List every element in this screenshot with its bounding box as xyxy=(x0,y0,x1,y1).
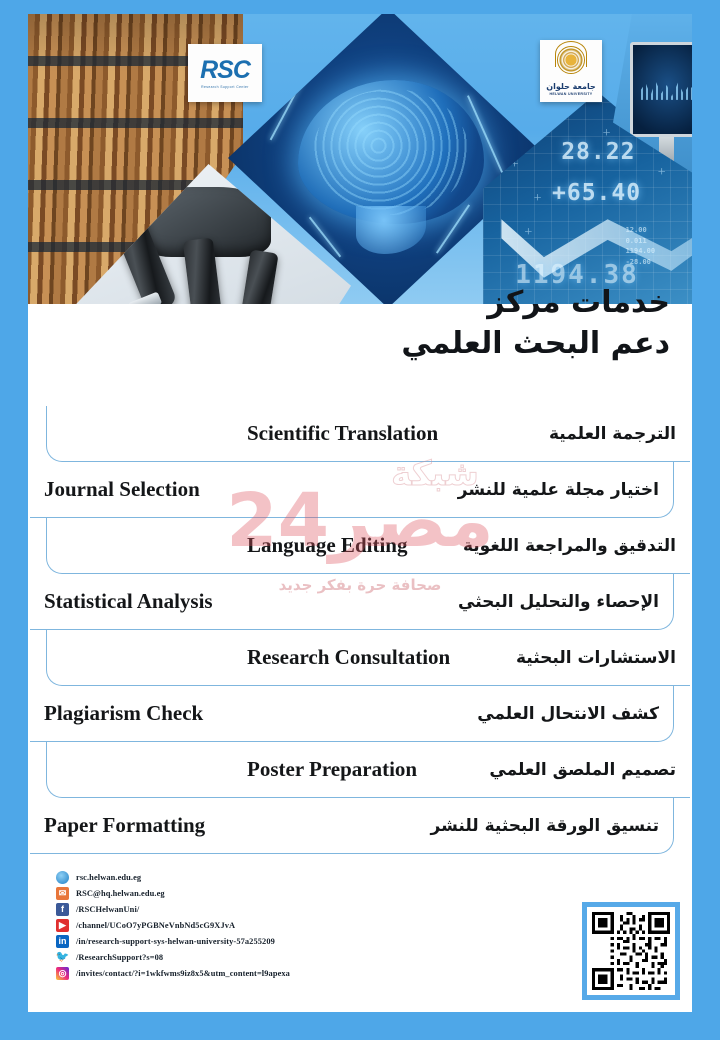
footer: rsc.helwan.edu.eg✉RSC@hq.helwan.edu.egf/… xyxy=(28,862,692,1012)
title-line-1: خدمات مركز xyxy=(250,282,670,323)
instagram-icon[interactable]: ◎ xyxy=(56,967,69,980)
service-row: Language Editingالتدقيق والمراجعة اللغوي… xyxy=(46,518,690,574)
plus-icon: + xyxy=(658,165,666,181)
service-row-inner: Research Consultationالاستشارات البحثية xyxy=(47,645,690,670)
service-row: Plagiarism Checkكشف الانتحال العلمي xyxy=(30,686,674,742)
service-row-inner: Paper Formattingتنسيق الورقة البحثية للن… xyxy=(30,813,673,838)
service-name-ar: تنسيق الورقة البحثية للنشر xyxy=(431,816,659,836)
rsc-logo: RSC Research Support Center xyxy=(188,44,262,102)
service-name-en: Poster Preparation xyxy=(247,757,417,782)
contact-row[interactable]: ◎/invites/contact/?i=1wkfwms9iz8x5&utm_c… xyxy=(56,966,290,981)
facebook-icon[interactable]: f xyxy=(56,903,69,916)
service-name-ar: الاستشارات البحثية xyxy=(516,648,676,668)
service-name-ar: اختيار مجلة علمية للنشر xyxy=(458,480,659,500)
contact-text: /in/research-support-sys-helwan-universi… xyxy=(76,937,275,946)
brain-stem xyxy=(356,206,426,254)
service-row-inner: Journal Selectionاختيار مجلة علمية للنشر xyxy=(30,477,673,502)
brain-lobe xyxy=(298,80,484,224)
stat-number-4: 12.00 0.011 1194.00 -28.00 xyxy=(626,225,656,267)
contact-row[interactable]: ▶/channel/UCoO7yPGBNeVnbNd5cG9XJvA xyxy=(56,918,290,933)
contacts-list: rsc.helwan.edu.eg✉RSC@hq.helwan.edu.egf/… xyxy=(56,870,290,982)
contact-row[interactable]: f/RSCHelwanUni/ xyxy=(56,902,290,917)
service-name-ar: الترجمة العلمية xyxy=(549,424,676,444)
helwan-logo-arabic: جامعة حلوان xyxy=(546,83,596,91)
service-row-inner: Plagiarism Checkكشف الانتحال العلمي xyxy=(30,701,673,726)
service-row: Statistical Analysisالإحصاء والتحليل الب… xyxy=(30,574,674,630)
plus-icon: + xyxy=(534,191,542,207)
service-name-en: Journal Selection xyxy=(44,477,200,502)
monitor-screen xyxy=(630,42,692,137)
service-name-en: Plagiarism Check xyxy=(44,701,203,726)
contact-row[interactable]: in/in/research-support-sys-helwan-univer… xyxy=(56,934,290,949)
service-row-inner: Scientific Translationالترجمة العلمية xyxy=(47,421,690,446)
service-row: Poster Preparationتصميم الملصق العلمي xyxy=(46,742,690,798)
contact-text: /channel/UCoO7yPGBNeVnbNd5cG9XJvA xyxy=(76,921,235,930)
twitter-icon[interactable]: 🐦 xyxy=(56,951,69,964)
plus-icon: + xyxy=(603,126,611,142)
contact-row[interactable]: ✉RSC@hq.helwan.edu.eg xyxy=(56,886,290,901)
service-name-en: Language Editing xyxy=(247,533,407,558)
contact-text: /invites/contact/?i=1wkfwms9iz8x5&utm_co… xyxy=(76,969,290,978)
waveform-icon xyxy=(641,79,692,100)
service-row: Journal Selectionاختيار مجلة علمية للنشر xyxy=(30,462,674,518)
service-name-en: Scientific Translation xyxy=(247,421,438,446)
title-line-2: دعم البحث العلمي xyxy=(250,323,670,364)
helwan-seal-icon xyxy=(557,46,585,74)
service-row: Research Consultationالاستشارات البحثية xyxy=(46,630,690,686)
plus-icon: + xyxy=(524,225,532,241)
brain-spark-icon xyxy=(269,78,304,141)
contact-text: /RSCHelwanUni/ xyxy=(76,905,139,914)
globe-icon[interactable] xyxy=(56,871,69,884)
youtube-icon[interactable]: ▶ xyxy=(56,919,69,932)
page-title: خدمات مركز دعم البحث العلمي xyxy=(250,282,670,365)
service-row-inner: Language Editingالتدقيق والمراجعة اللغوي… xyxy=(47,533,690,558)
rsc-logo-subtitle: Research Support Center xyxy=(201,85,249,89)
service-name-ar: الإحصاء والتحليل البحثي xyxy=(458,592,659,612)
header-collage: 28.22 +65.40 1194.38 12.00 0.011 1194.00… xyxy=(28,14,692,304)
linkedin-icon[interactable]: in xyxy=(56,935,69,948)
brain-spark-icon xyxy=(309,217,341,258)
service-name-en: Paper Formatting xyxy=(44,813,205,838)
helwan-university-logo: جامعة حلوان HELWAN UNIVERSITY xyxy=(540,40,602,102)
helwan-logo-english: HELWAN UNIVERSITY xyxy=(549,92,592,96)
services-list: Scientific Translationالترجمة العلميةJou… xyxy=(28,406,692,852)
contact-row[interactable]: 🐦/ResearchSupport?s=08 xyxy=(56,950,290,965)
qr-code[interactable] xyxy=(582,902,680,1000)
rsc-logo-text: RSC xyxy=(200,58,250,83)
contact-row[interactable]: rsc.helwan.edu.eg xyxy=(56,870,290,885)
stat-number-1: 28.22 xyxy=(561,139,635,165)
service-name-en: Research Consultation xyxy=(247,645,450,670)
poster-sheet: 28.22 +65.40 1194.38 12.00 0.011 1194.00… xyxy=(28,14,692,1012)
service-name-ar: كشف الانتحال العلمي xyxy=(477,704,659,724)
service-name-ar: التدقيق والمراجعة اللغوية xyxy=(463,536,676,556)
service-row-inner: Statistical Analysisالإحصاء والتحليل الب… xyxy=(30,589,673,614)
service-name-en: Statistical Analysis xyxy=(44,589,213,614)
stat-number-2: +65.40 xyxy=(552,180,641,206)
service-row: Scientific Translationالترجمة العلمية xyxy=(46,406,690,462)
contact-text: rsc.helwan.edu.eg xyxy=(76,873,141,882)
service-row: Paper Formattingتنسيق الورقة البحثية للن… xyxy=(30,798,674,854)
email-icon[interactable]: ✉ xyxy=(56,887,69,900)
service-row-inner: Poster Preparationتصميم الملصق العلمي xyxy=(47,757,690,782)
service-name-ar: تصميم الملصق العلمي xyxy=(489,760,676,780)
qr-code-image xyxy=(592,912,670,990)
contact-text: /ResearchSupport?s=08 xyxy=(76,953,163,962)
poster-root: 28.22 +65.40 1194.38 12.00 0.011 1194.00… xyxy=(0,0,720,1040)
contact-text: RSC@hq.helwan.edu.eg xyxy=(76,889,165,898)
